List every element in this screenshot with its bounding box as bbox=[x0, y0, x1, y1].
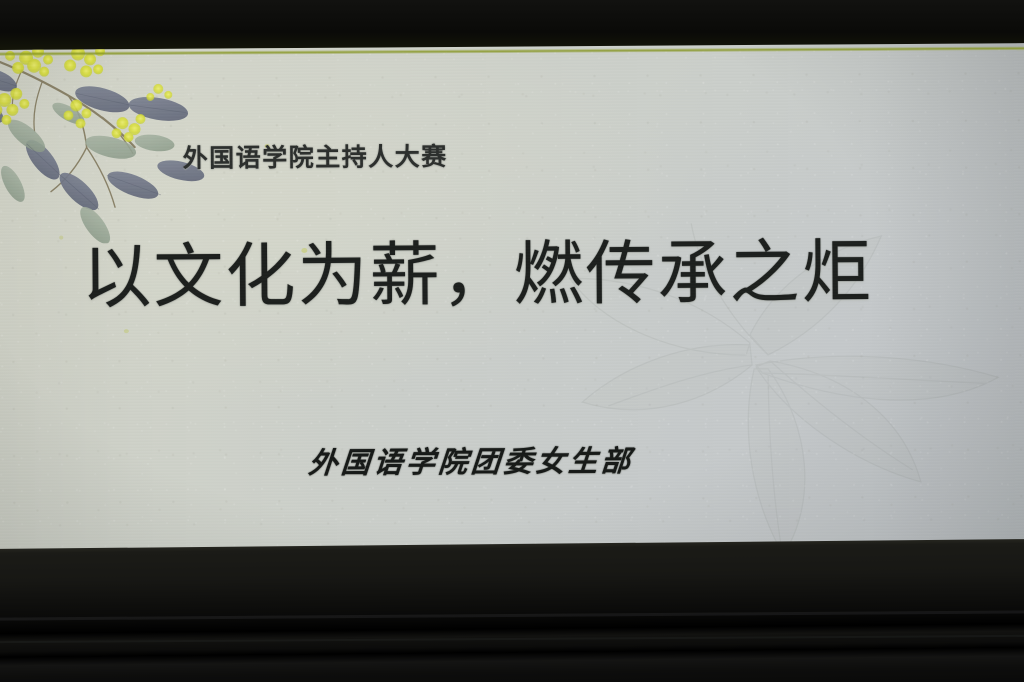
paper-fleck bbox=[124, 329, 129, 333]
slide-subtitle: 外国语学院主持人大赛 bbox=[183, 137, 448, 175]
projected-slide-photo: 外国语学院主持人大赛 以文化为薪，燃传承之炬 外国语学院团委女生部 bbox=[0, 0, 1024, 682]
paper-fleck bbox=[59, 236, 63, 240]
slide-attribution: 外国语学院团委女生部 bbox=[307, 438, 635, 482]
presentation-slide: 外国语学院主持人大赛 以文化为薪，燃传承之炬 外国语学院团委女生部 bbox=[0, 43, 1024, 550]
slide-title: 以文化为薪，燃传承之炬 bbox=[81, 237, 947, 317]
bottom-dark-band bbox=[0, 539, 1024, 682]
